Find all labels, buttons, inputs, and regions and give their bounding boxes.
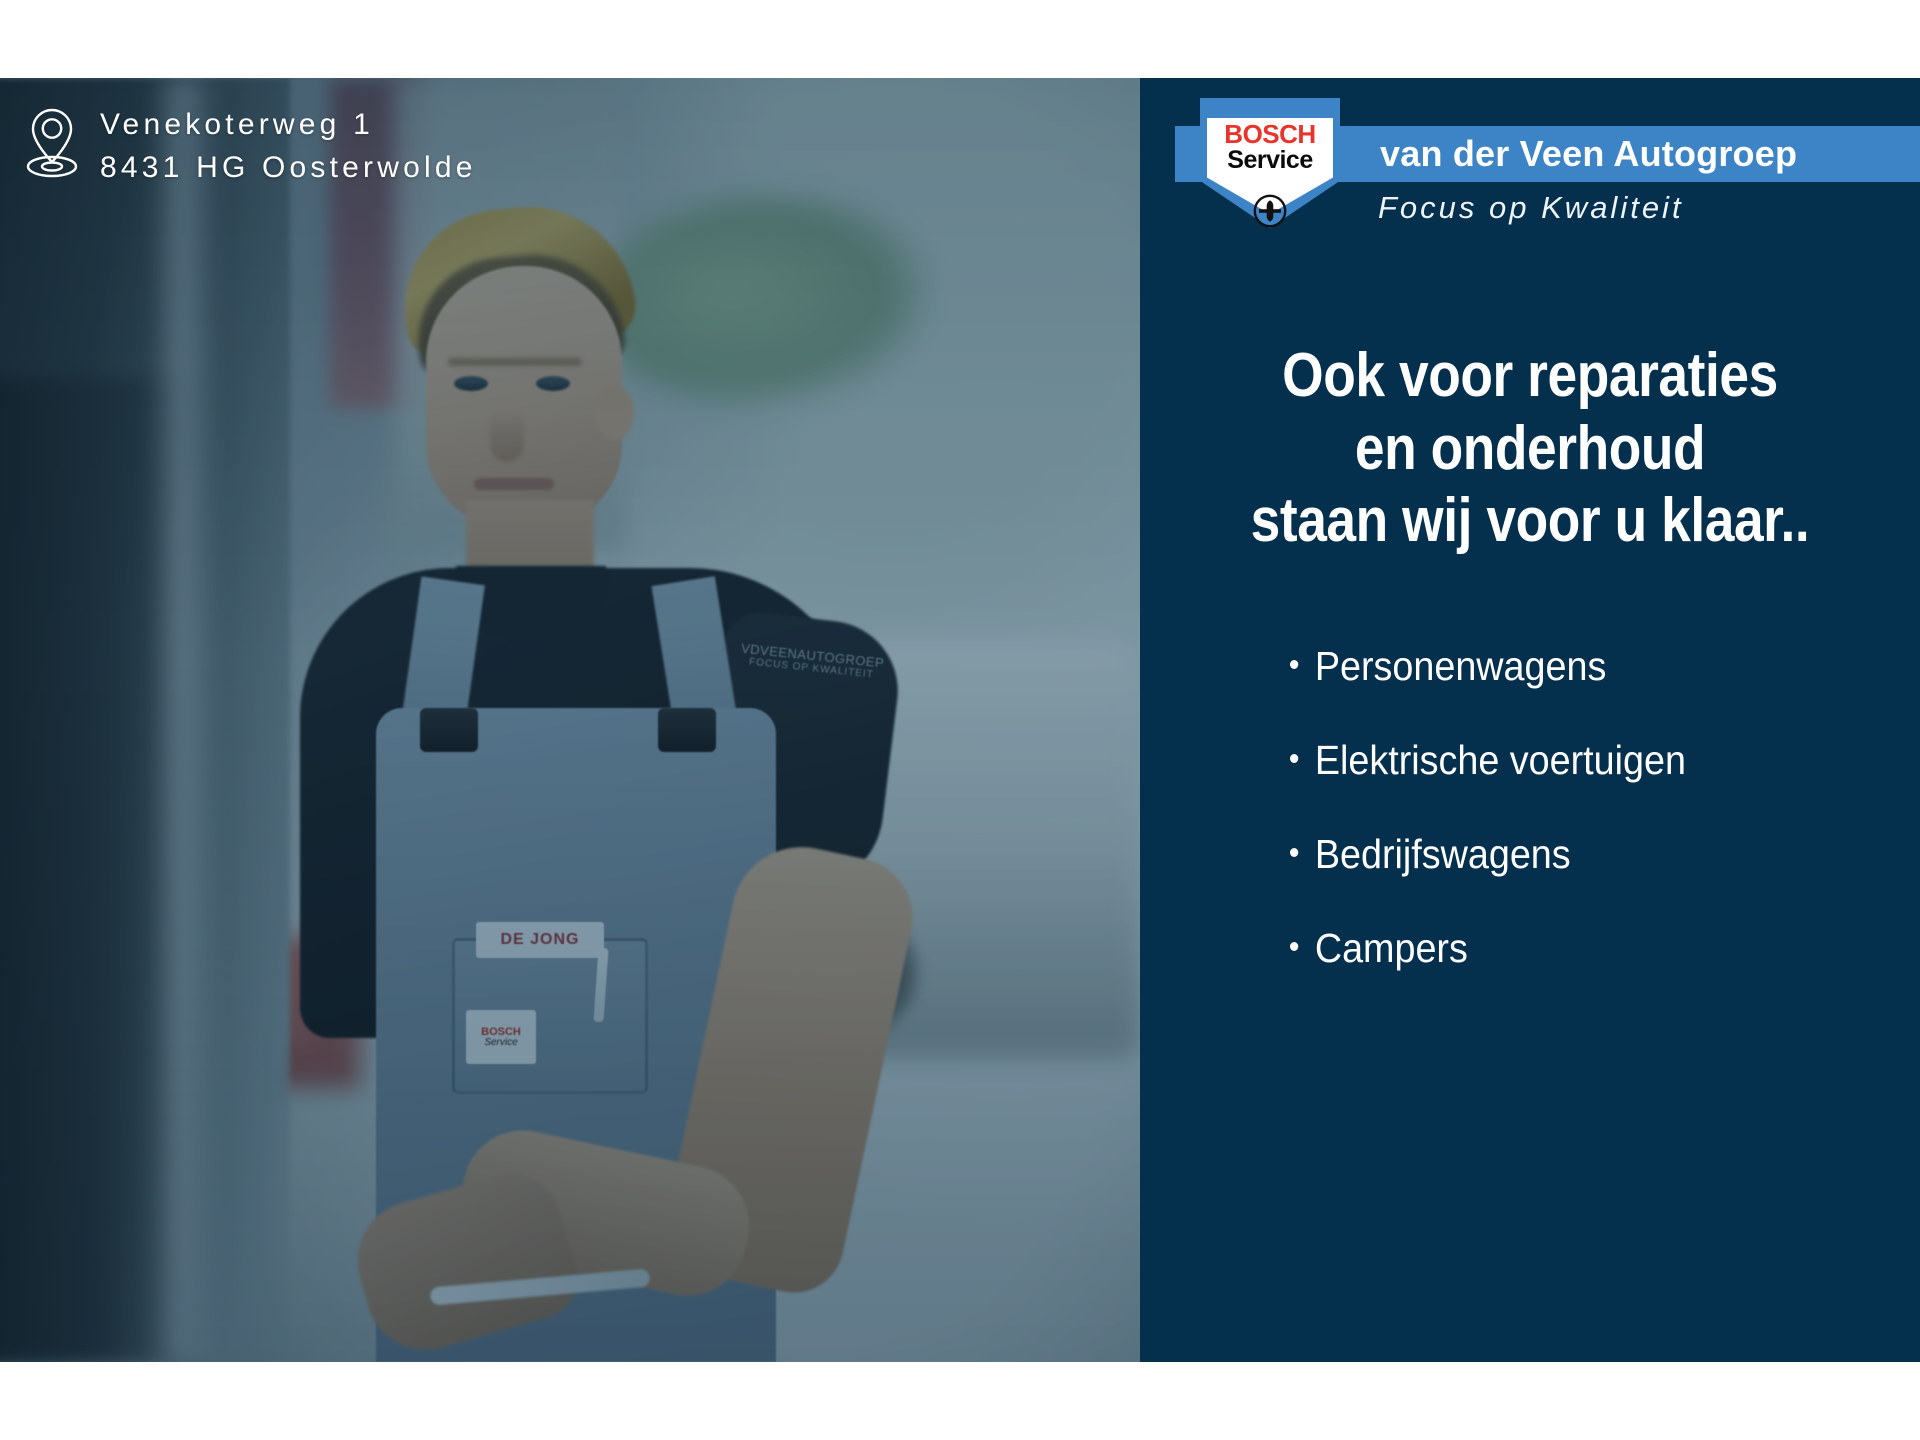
address-text: Venekoterweg 1 8431 HG Oosterwolde	[100, 104, 477, 189]
list-item: Personenwagens	[1290, 646, 1879, 687]
bosch-service-logo: BOSCH Service	[1200, 98, 1340, 228]
service-label: Campers	[1315, 928, 1468, 969]
address-city: 8431 HG Oosterwolde	[100, 147, 477, 190]
list-item: Elektrische voertuigen	[1290, 740, 1879, 781]
bullet-icon	[1290, 660, 1298, 669]
company-name: van der Veen Autogroep	[1380, 133, 1797, 175]
info-panel: van der Veen Autogroep BOSCH Service Foc…	[1140, 78, 1920, 1362]
service-label: Personenwagens	[1315, 646, 1606, 687]
headline: Ook voor reparaties en onderhoud staan w…	[1195, 340, 1866, 558]
bosch-wordmark: BOSCH	[1224, 121, 1315, 147]
photo-blue-overlay	[0, 78, 1140, 1362]
bosch-armature-icon	[1253, 194, 1287, 233]
services-list: Personenwagens Elektrische voertuigen Be…	[1290, 646, 1920, 1022]
bullet-icon	[1290, 942, 1298, 951]
address-street: Venekoterweg 1	[100, 104, 477, 147]
list-item: Campers	[1290, 928, 1879, 969]
list-item: Bedrijfswagens	[1290, 834, 1879, 875]
bosch-logo-top-band	[1200, 98, 1340, 118]
headline-line-1: Ook voor reparaties	[1195, 340, 1866, 413]
bullet-icon	[1290, 848, 1298, 857]
company-tagline: Focus op Kwaliteit	[1378, 190, 1684, 226]
service-label: Bedrijfswagens	[1315, 834, 1571, 875]
bullet-icon	[1290, 754, 1298, 763]
map-pin-icon	[26, 106, 78, 185]
address-block: Venekoterweg 1 8431 HG Oosterwolde	[26, 104, 477, 189]
service-wordmark: Service	[1227, 147, 1312, 173]
headline-line-3: staan wij voor u klaar..	[1195, 485, 1866, 558]
mechanic-photo: VDVEENAUTOGROEP FOCUS OP KWALITEIT DE JO…	[0, 78, 1140, 1362]
service-label: Elektrische voertuigen	[1315, 740, 1686, 781]
advertisement-root: VDVEENAUTOGROEP FOCUS OP KWALITEIT DE JO…	[0, 78, 1920, 1362]
headline-line-2: en onderhoud	[1195, 413, 1866, 486]
